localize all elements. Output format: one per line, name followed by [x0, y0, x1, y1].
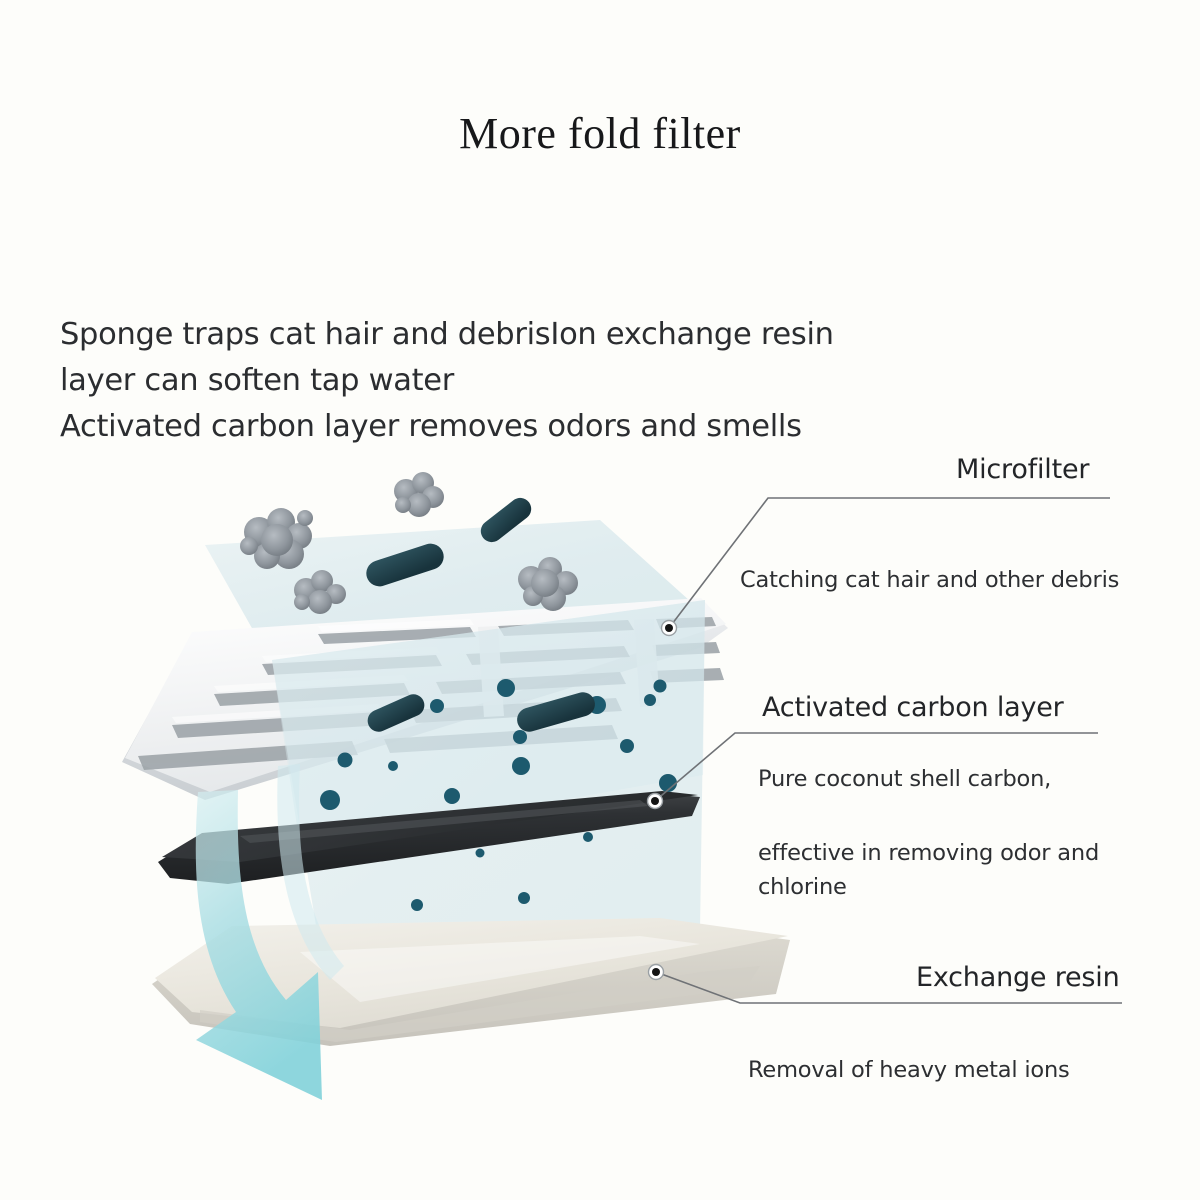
callout-description-exchange-resin: Removal of heavy metal ions: [748, 1053, 1070, 1087]
intro-paragraph: Sponge traps cat hair and debrisIon exch…: [60, 312, 1070, 450]
intro-line-2: layer can soften tap water: [60, 358, 1070, 404]
floating-debris-cluster-1: [240, 508, 313, 569]
floating-debris-cluster-2: [394, 472, 444, 517]
callout-description-activated-carbon-line-2: effective in removing odor and: [758, 836, 1099, 870]
infographic-canvas: More fold filter Sponge traps cat hair a…: [0, 0, 1200, 1200]
callout-description-microfilter-line-1: Catching cat hair and other debris: [740, 563, 1119, 597]
carbon-slab-layer: [158, 791, 700, 884]
filter-illustration: [0, 0, 1200, 1200]
anchor-marker-microfilter: [662, 621, 677, 636]
callout-heading-activated-carbon: Activated carbon layer: [762, 692, 1064, 723]
resin-slab-layer: [152, 918, 790, 1046]
water-plane-upper: [205, 520, 700, 660]
floating-debris-cluster-3: [294, 570, 346, 614]
callout-description-activated-carbon-line-3: chlorine: [758, 870, 1099, 904]
callout-heading-microfilter: Microfilter: [956, 454, 1089, 485]
anchor-marker-activated-carbon: [648, 794, 663, 809]
callout-description-microfilter: Catching cat hair and other debris: [740, 563, 1119, 597]
floating-capsule-debris: [363, 493, 536, 589]
callout-leader-lines: [0, 0, 1200, 1200]
microfilter-mesh-layer: [122, 598, 728, 800]
callout-description-activated-carbon-a: Pure coconut shell carbon,: [758, 762, 1051, 796]
callout-description-exchange-resin-line-1: Removal of heavy metal ions: [748, 1053, 1070, 1087]
water-plane-main: [272, 600, 705, 1010]
callout-description-activated-carbon-b: effective in removing odor and chlorine: [758, 836, 1099, 904]
anchor-marker-exchange-resin: [649, 965, 664, 980]
floating-debris-cluster-4: [518, 557, 578, 611]
page-title: More fold filter: [0, 108, 1200, 159]
water-flow-arrow: [196, 764, 344, 1100]
mineral-ion-dots: [320, 679, 677, 911]
trapped-debris-particles: [364, 689, 598, 735]
callout-description-activated-carbon-line-1: Pure coconut shell carbon,: [758, 762, 1051, 796]
intro-line-1: Sponge traps cat hair and debrisIon exch…: [60, 312, 1070, 358]
callout-heading-exchange-resin: Exchange resin: [916, 962, 1120, 993]
intro-line-3: Activated carbon layer removes odors and…: [60, 404, 1070, 450]
